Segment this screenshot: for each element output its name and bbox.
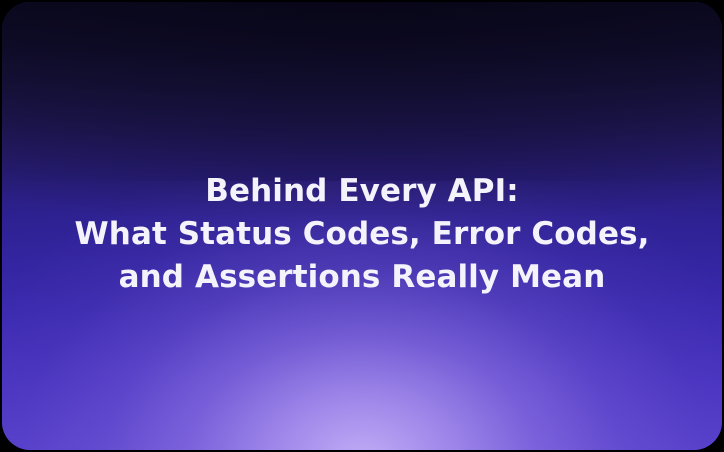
slide-title: Behind Every API: What Status Codes, Err… <box>2 170 722 299</box>
slide-frame: Behind Every API: What Status Codes, Err… <box>0 0 724 452</box>
title-line-2: What Status Codes, Error Codes, <box>20 213 704 256</box>
slide-card: Behind Every API: What Status Codes, Err… <box>2 2 722 450</box>
title-line-1: Behind Every API: <box>20 170 704 213</box>
title-line-3: and Assertions Really Mean <box>20 256 704 299</box>
